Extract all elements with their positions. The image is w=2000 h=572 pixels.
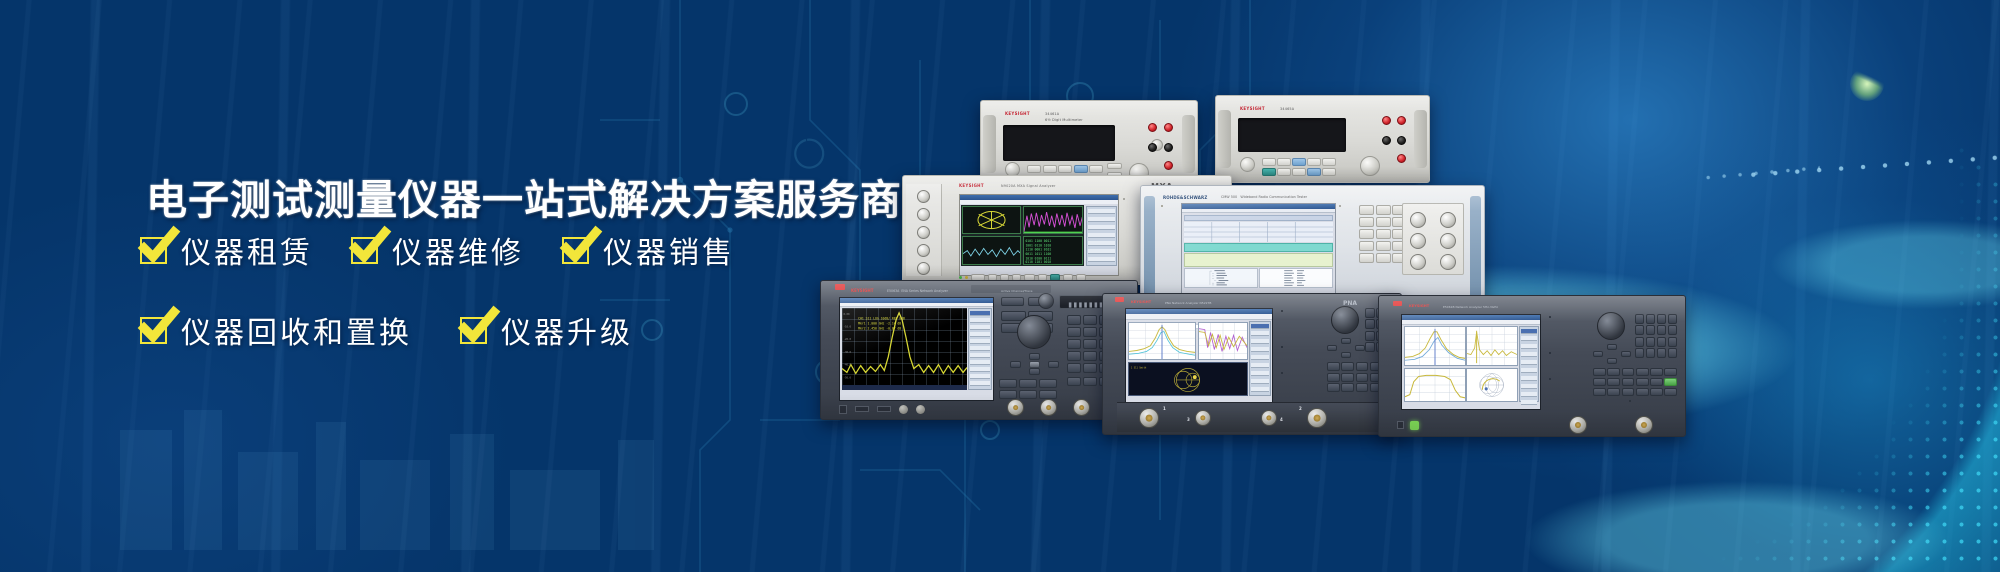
svg-text:0.00: 0.00 <box>843 312 850 316</box>
checkbox-checked-icon <box>460 317 487 344</box>
feature-item-upgrade[interactable]: 仪器升级 <box>460 308 633 352</box>
hero-banner: 电子测试测量仪器一站式解决方案服务商 仪器租赁 仪器维修 <box>0 0 2000 572</box>
analyzer-display <box>1401 314 1541 410</box>
feature-list: 仪器租赁 仪器维修 仪器销售 <box>140 228 900 374</box>
feature-item-sales[interactable]: 仪器销售 <box>562 228 735 272</box>
instrument-network-analyzer-3: KEYSIGHT E5061B Network Analyzer 5Hz-3GH… <box>1378 295 1686 437</box>
feature-item-rental[interactable]: 仪器租赁 <box>140 228 313 272</box>
hero-copy-block: 电子测试测量仪器一站式解决方案服务商 仪器租赁 仪器维修 <box>0 0 900 572</box>
comm-tester-display <box>1181 203 1336 297</box>
svg-text:1 S11 Smith: 1 S11 Smith <box>1131 366 1147 369</box>
svg-text:CH1 S11 LOG 10dB/ REF 0dB: CH1 S11 LOG 10dB/ REF 0dB <box>858 317 905 321</box>
svg-text:Mkr1 1.000 GHz -2.14 dB: Mkr1 1.000 GHz -2.14 dB <box>858 322 901 326</box>
checkbox-checked-icon <box>140 317 167 344</box>
feature-row-1: 仪器租赁 仪器维修 仪器销售 <box>140 228 900 272</box>
svg-text:-40.0: -40.0 <box>843 363 851 367</box>
checkbox-checked-icon <box>140 237 167 264</box>
svg-text:0110 1101 0010: 0110 1101 0010 <box>1025 260 1051 264</box>
svg-text:0011 1011 1100: 0011 1011 1100 <box>1025 252 1051 256</box>
checkbox-checked-icon <box>351 237 378 264</box>
analyzer-display: 0101 1100 00111001 0110 1010 1110 0001 0… <box>959 194 1119 276</box>
instrument-network-analyzer-1: KEYSIGHT E5063A ENA Series Network Analy… <box>820 280 1138 420</box>
svg-text:0101 1100 0011: 0101 1100 0011 <box>1025 239 1051 243</box>
feature-label: 仪器租赁 <box>181 228 313 272</box>
svg-text:-10.0: -10.0 <box>843 325 851 329</box>
feature-label: 仪器回收和置换 <box>181 308 412 352</box>
svg-text:-20.0: -20.0 <box>843 337 851 341</box>
feature-row-2: 仪器回收和置换 仪器升级 <box>140 308 900 352</box>
feature-label: 仪器维修 <box>392 228 524 272</box>
svg-text:-50.0: -50.0 <box>843 375 851 379</box>
instrument-cluster: KEYSIGHT 34461A 6½ Digit Multimeter <box>1020 95 2000 515</box>
page-title: 电子测试测量仪器一站式解决方案服务商 <box>146 166 902 226</box>
svg-text:-30.0: -30.0 <box>843 350 851 354</box>
checkbox-checked-icon <box>562 237 589 264</box>
analyzer-display: 1 S11 Smith <box>1125 308 1273 404</box>
feature-item-repair[interactable]: 仪器维修 <box>351 228 524 272</box>
feature-item-recycle-exchange[interactable]: 仪器回收和置换 <box>140 308 412 352</box>
svg-text:1110 0001 0101: 1110 0001 0101 <box>1025 247 1051 251</box>
svg-text:Mkr2 2.450 GHz -0.87 dB: Mkr2 2.450 GHz -0.87 dB <box>858 326 901 330</box>
svg-text:1001 0110 1010: 1001 0110 1010 <box>1025 243 1051 247</box>
feature-label: 仪器升级 <box>501 308 633 352</box>
feature-label: 仪器销售 <box>603 228 735 272</box>
analyzer-display: CH1 S11 LOG 10dB/ REF 0dB Mkr1 1.000 GHz… <box>839 297 994 401</box>
instrument-dmm-right: KEYSIGHT 34465A <box>1215 95 1430 183</box>
instrument-network-analyzer-2: KEYSIGHT PNA Network Analyzer N5227B PNA <box>1102 293 1402 435</box>
